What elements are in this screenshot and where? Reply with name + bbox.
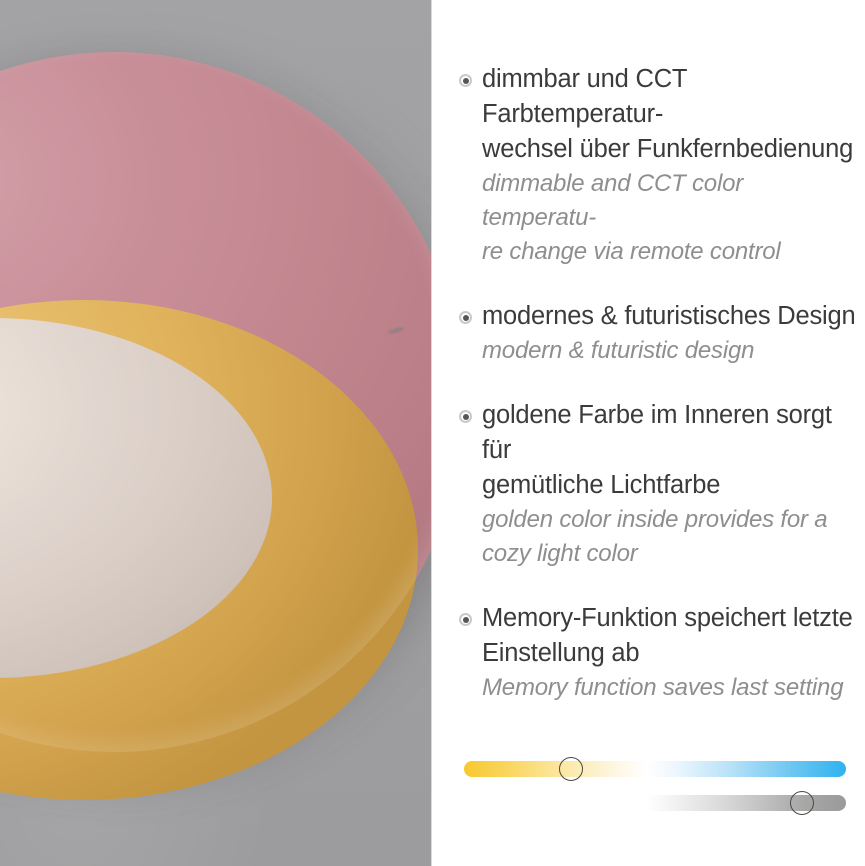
feature-list: dimmbar und CCT Farbtemperatur- wechsel …	[432, 62, 865, 735]
feature-text-en: golden color inside provides for a cozy …	[482, 503, 859, 571]
product-feature-page: dimmbar und CCT Farbtemperatur- wechsel …	[0, 0, 865, 866]
feature-panel: dimmbar und CCT Farbtemperatur- wechsel …	[432, 0, 865, 866]
feature-text-de: Memory-Funktion speichert letzte Einstel…	[482, 601, 859, 671]
feature-item-memory-function: Memory-Funktion speichert letzte Einstel…	[432, 601, 865, 705]
feature-text-en: Memory function saves last setting	[482, 671, 859, 705]
bullet-dot-icon	[459, 74, 472, 87]
feature-item-design: modernes & futuristisches Design modern …	[432, 299, 865, 368]
bullet-dot-icon	[459, 613, 472, 626]
feature-text-en: dimmable and CCT color temperatu- re cha…	[482, 167, 859, 269]
feature-text-de: modernes & futuristisches Design	[482, 299, 859, 334]
cct-slider-knob[interactable]	[559, 757, 583, 781]
slider-illustrations	[432, 740, 865, 840]
brightness-slider-track[interactable]	[646, 795, 846, 811]
cct-slider[interactable]	[464, 756, 846, 782]
bullet-dot-icon	[459, 311, 472, 324]
feature-item-golden-color: goldene Farbe im Inneren sorgt für gemüt…	[432, 398, 865, 571]
brightness-slider[interactable]	[646, 790, 846, 816]
feature-text-de: dimmbar und CCT Farbtemperatur- wechsel …	[482, 62, 859, 167]
feature-text-de: goldene Farbe im Inneren sorgt für gemüt…	[482, 398, 859, 503]
product-image-panel	[0, 0, 431, 866]
feature-text-en: modern & futuristic design	[482, 334, 859, 368]
feature-item-dimmable: dimmbar und CCT Farbtemperatur- wechsel …	[432, 62, 865, 269]
bullet-dot-icon	[459, 410, 472, 423]
cct-slider-track[interactable]	[464, 761, 846, 777]
brightness-slider-knob[interactable]	[790, 791, 814, 815]
